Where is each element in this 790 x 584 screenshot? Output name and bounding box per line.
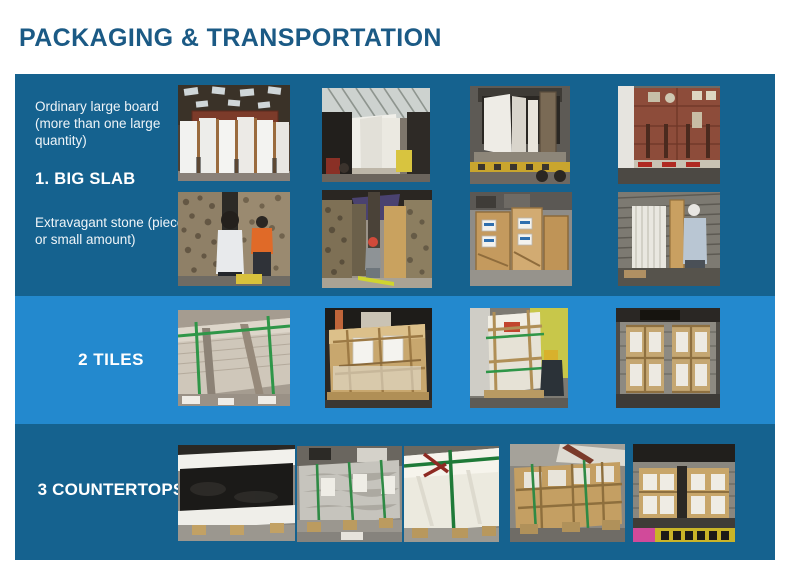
photo-strapped-tile-bundle-green-bands xyxy=(178,310,290,406)
photo-wrapped-bundle-green-red-straps xyxy=(404,446,499,542)
photo-wooden-crate-countertop-stacks xyxy=(510,444,625,542)
row-heading-big-slab: 1. BIG SLAB xyxy=(35,170,185,189)
photo-crate-loaded-into-container xyxy=(618,192,720,286)
photo-slabs-loaded-into-truck xyxy=(322,88,430,182)
photo-crated-pallet-being-moved xyxy=(470,308,568,408)
photo-white-wrapped-slabs-warehouse xyxy=(178,85,290,181)
row-heading-countertops: 3 COUNTERTOPS xyxy=(27,480,195,500)
photo-crates-loaded-in-container xyxy=(633,444,735,542)
slide-canvas: PACKAGING & TRANSPORTATION Ordinary larg… xyxy=(0,0,790,584)
caption-extravagant-stone: Extravagant stone (piece or small amount… xyxy=(35,214,185,248)
photo-tile-crates-inside-container xyxy=(616,308,720,408)
photo-grey-countertops-strapped-pallet xyxy=(297,446,402,542)
caption-ordinary-large-board: Ordinary large board (more than one larg… xyxy=(35,98,185,149)
photo-warehouse-aisle-slab-bundles xyxy=(322,190,432,288)
row-heading-tiles: 2 TILES xyxy=(35,350,187,370)
page-title: PACKAGING & TRANSPORTATION xyxy=(19,24,442,53)
photo-black-countertop-on-wooden-pallet xyxy=(178,445,295,541)
packaging-panel: Ordinary large board (more than one larg… xyxy=(15,74,775,560)
photo-crated-tile-pallet-documents xyxy=(325,308,432,408)
photo-wooden-crates-with-labels xyxy=(470,192,572,286)
photo-red-container-rear-doors xyxy=(618,86,720,184)
photo-slabs-inside-container xyxy=(470,86,570,184)
photo-workers-inspecting-granite-slab xyxy=(178,192,290,286)
